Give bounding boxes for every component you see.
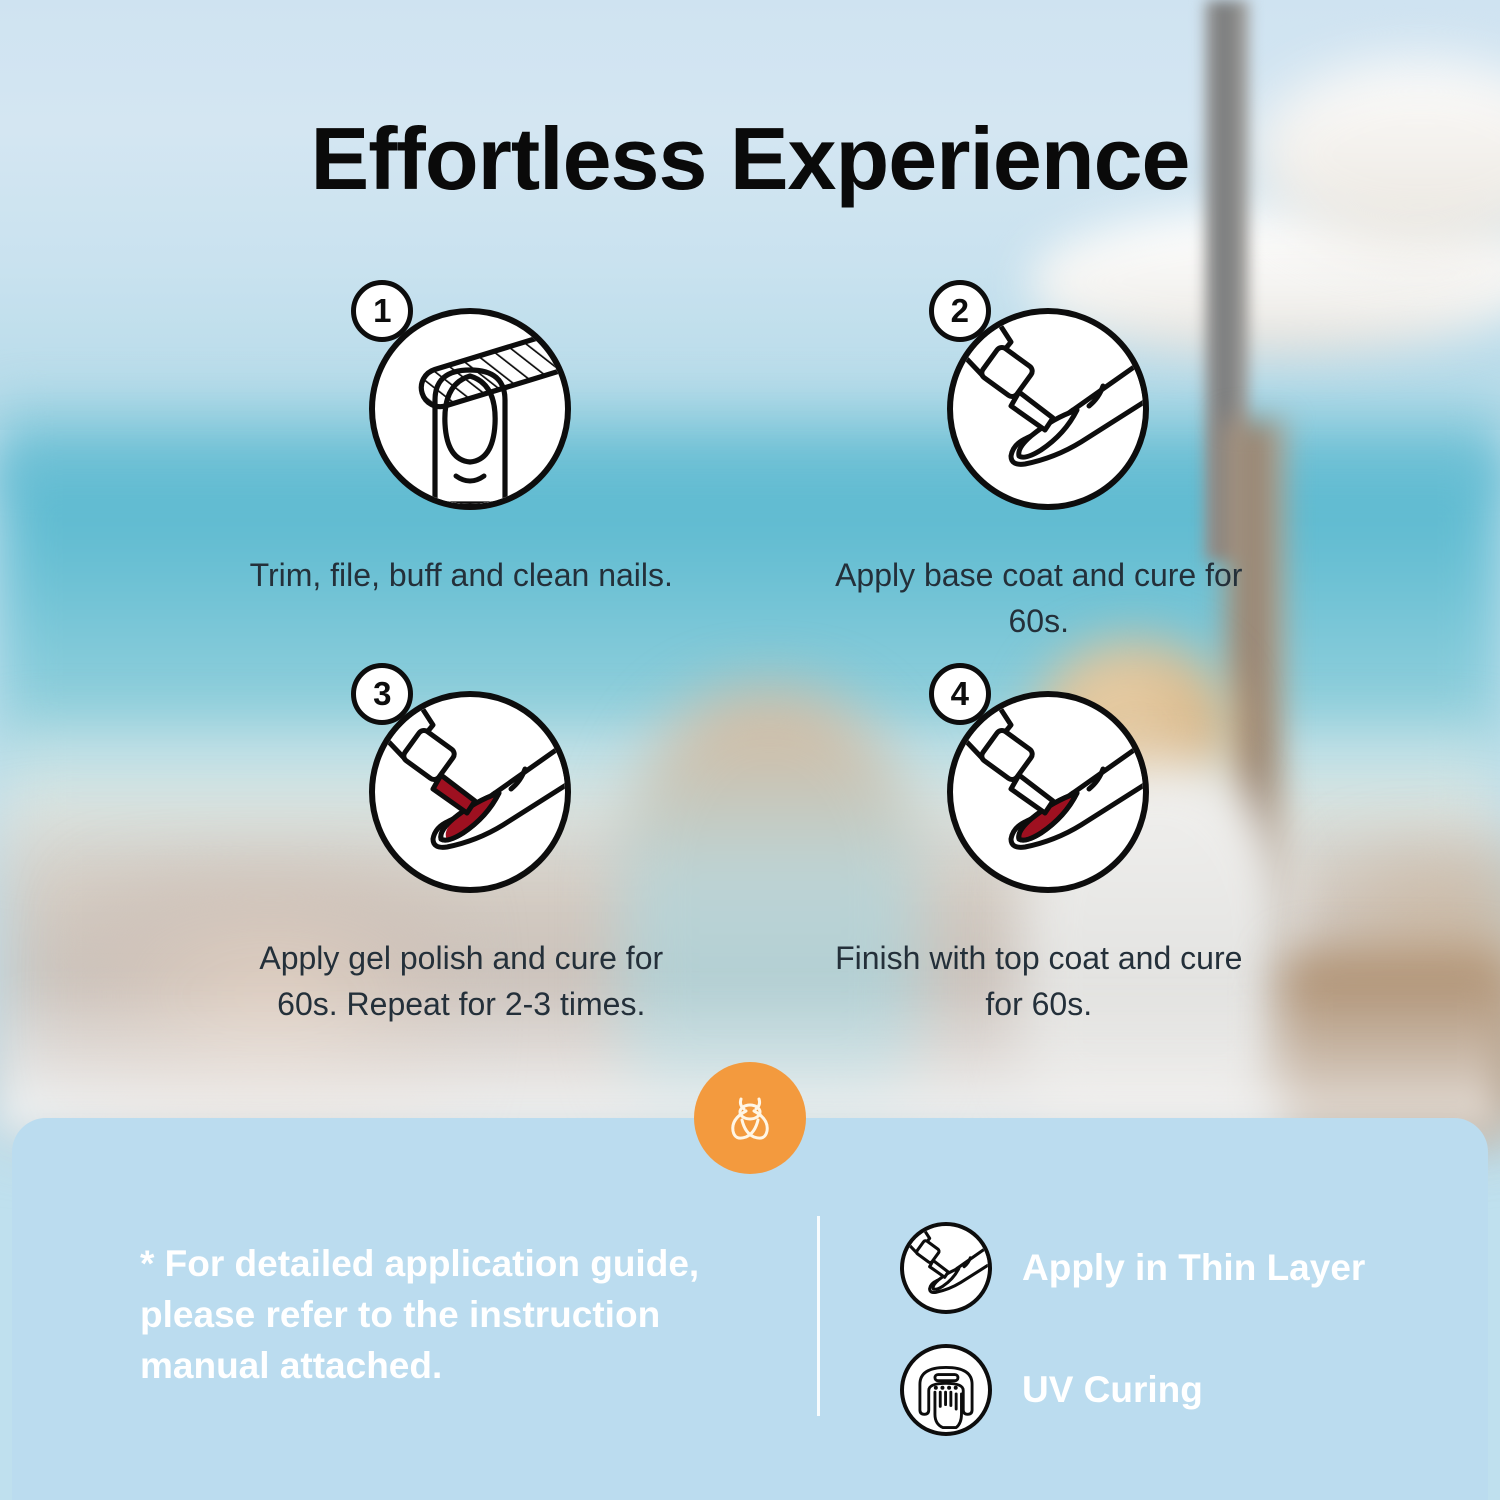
step-3-number: 3: [351, 663, 413, 725]
step-2-number: 2: [929, 280, 991, 342]
step-1-caption: Trim, file, buff and clean nails.: [246, 552, 676, 598]
step-4-icon-wrap: 4: [929, 663, 1149, 913]
brush-gel-polish-icon: [369, 691, 571, 893]
feature-uv-curing: UV Curing: [900, 1344, 1365, 1436]
step-4-number: 4: [929, 663, 991, 725]
step-2-caption: Apply base coat and cure for 60s.: [824, 552, 1254, 645]
feature-label-thin-layer: Apply in Thin Layer: [1022, 1247, 1365, 1289]
footer-features: Apply in Thin Layer: [900, 1222, 1365, 1436]
brush-thin-layer-icon: [900, 1222, 992, 1314]
brush-top-coat-icon: [947, 691, 1149, 893]
nail-file-icon: [369, 308, 571, 510]
uv-lamp-icon: [900, 1344, 992, 1436]
brush-base-coat-icon: [947, 308, 1149, 510]
feature-apply-thin-layer: Apply in Thin Layer: [900, 1222, 1365, 1314]
step-3-icon-wrap: 3: [351, 663, 571, 913]
brand-logo-badge: [694, 1062, 806, 1174]
step-4-caption: Finish with top coat and cure for 60s.: [824, 935, 1254, 1028]
step-4: 4 Finish with top coat and cure for 60s.: [768, 645, 1311, 1028]
step-1-number: 1: [351, 280, 413, 342]
step-2-icon-wrap: 2: [929, 280, 1149, 530]
footer-note: * For detailed application guide, please…: [140, 1238, 780, 1391]
footer-divider: [817, 1216, 820, 1416]
step-2: 2 Apply base coat and cure for 60s.: [768, 280, 1311, 645]
bee-logo-icon: [719, 1087, 781, 1149]
feature-label-uv-curing: UV Curing: [1022, 1369, 1203, 1411]
step-3-caption: Apply gel polish and cure for 60s. Repea…: [246, 935, 676, 1028]
steps-grid: 1 Trim, file, buff and clean nails.: [190, 280, 1310, 1028]
step-3: 3 Apply gel polish and cure for 60s. Rep…: [190, 645, 733, 1028]
step-1: 1 Trim, file, buff and clean nails.: [190, 280, 733, 645]
step-1-icon-wrap: 1: [351, 280, 571, 530]
page-title: Effortless Experience: [0, 108, 1500, 210]
